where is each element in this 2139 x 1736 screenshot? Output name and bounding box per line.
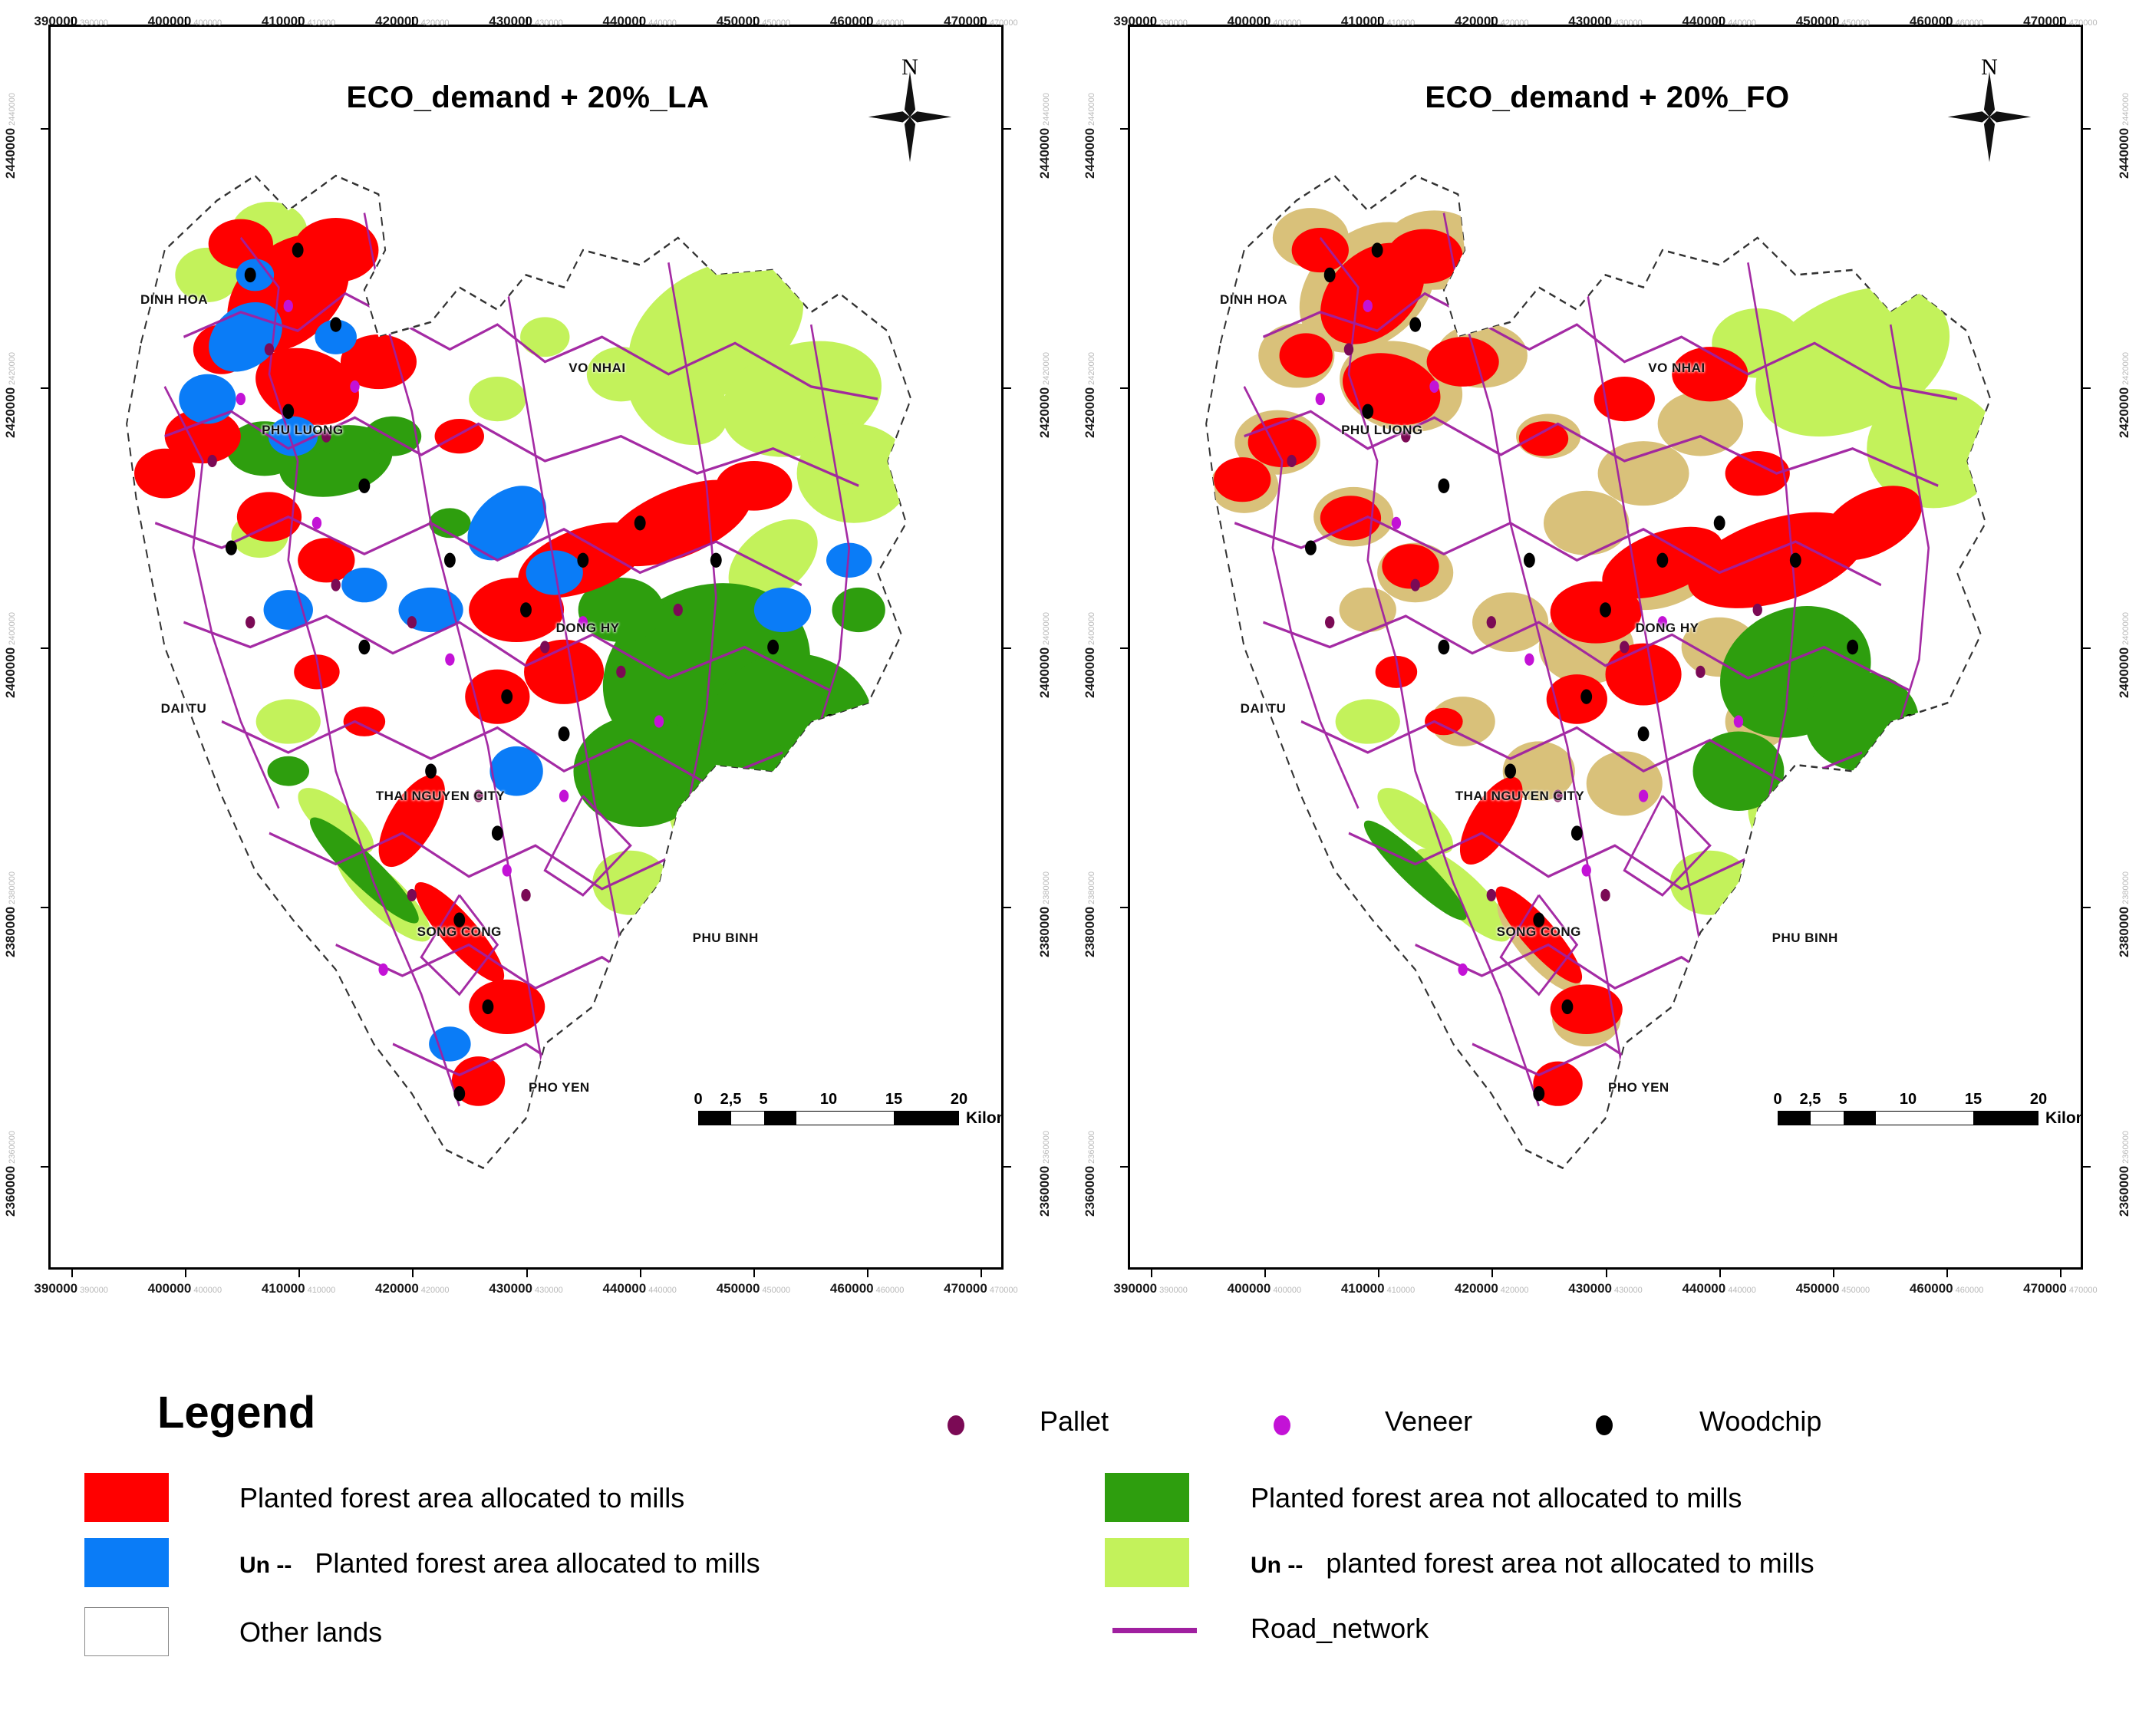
legend-point-label: Woodchip xyxy=(1699,1405,1821,1438)
x-tick-mark xyxy=(1378,17,1379,25)
scalebar-tick-label: 20 xyxy=(951,1091,967,1108)
x-tick-mark xyxy=(1378,1270,1379,1277)
place-label: VO NHAI xyxy=(569,361,625,376)
north-letter-la: N xyxy=(901,54,918,81)
scalebar-tick-label: 15 xyxy=(885,1091,902,1108)
x-tick-label: 390000390000 xyxy=(34,1281,107,1296)
legend-area-label: Other lands xyxy=(239,1616,382,1649)
woodchip-dot-icon xyxy=(1596,1415,1613,1435)
x-tick-label: 460000460000 xyxy=(1910,1281,1983,1296)
y-tick-mark xyxy=(1120,128,1128,130)
legend: Legend PalletVeneerWoodchipPlanted fores… xyxy=(0,1373,2139,1734)
map-frame-fo: DINH HOAPHU LUONGVO NHAIDONG HYDAI TUTHA… xyxy=(1128,25,2083,1270)
place-label: PHU LUONG xyxy=(262,423,344,438)
north-arrow-fo: N xyxy=(1944,58,2035,173)
legend-point-label: Veneer xyxy=(1385,1405,1472,1438)
x-tick-mark xyxy=(298,1270,300,1277)
x-tick-mark xyxy=(185,1270,186,1277)
veneer-dot-icon xyxy=(1274,1415,1290,1435)
scalebar-tick-label: 2,5 xyxy=(1800,1091,1821,1108)
place-label: PHU BINH xyxy=(1772,931,1838,946)
y-tick-label: 23600002360000 xyxy=(1083,1131,1098,1217)
x-tick-mark xyxy=(1719,1270,1721,1277)
x-tick-mark xyxy=(867,17,868,25)
y-tick-label: 23600002360000 xyxy=(2117,1131,2132,1217)
x-tick-label: 430000430000 xyxy=(489,1281,562,1296)
x-tick-mark xyxy=(1264,17,1266,25)
x-tick-mark xyxy=(1151,17,1152,25)
y-tick-label: 23600002360000 xyxy=(3,1131,18,1217)
x-tick-mark xyxy=(71,17,73,25)
x-tick-mark xyxy=(298,17,300,25)
y-tick-label: 24200002420000 xyxy=(2117,352,2132,438)
y-tick-label: 24000002400000 xyxy=(2117,611,2132,697)
scalebar-tick-label: 0 xyxy=(694,1091,702,1108)
y-tick-label: 23800002380000 xyxy=(2117,871,2132,957)
x-tick-mark xyxy=(412,17,414,25)
x-tick-label: 420000420000 xyxy=(1455,1281,1528,1296)
scalebar-labels-fo: 02,55101520 xyxy=(1778,1091,2038,1111)
scalebar-tick-label: 5 xyxy=(1838,1091,1847,1108)
x-tick-mark xyxy=(412,1270,414,1277)
scalebar-tick-label: 10 xyxy=(820,1091,837,1108)
scalebar-tick-label: 20 xyxy=(2030,1091,2047,1108)
y-tick-label: 24000002400000 xyxy=(1037,611,1053,697)
x-tick-label: 410000410000 xyxy=(262,1281,335,1296)
pallet-dot-icon xyxy=(948,1415,964,1435)
x-tick-mark xyxy=(1719,17,1721,25)
x-tick-label: 440000440000 xyxy=(602,1281,676,1296)
x-tick-label: 410000410000 xyxy=(1341,1281,1415,1296)
place-label: DAI TU xyxy=(1241,701,1287,716)
x-tick-mark xyxy=(1833,17,1834,25)
place-label: SONG CONG xyxy=(417,924,502,940)
y-tick-mark xyxy=(1120,387,1128,389)
scalebar-unit-la: Kilometers xyxy=(966,1109,1004,1128)
y-tick-label: 23800002380000 xyxy=(1037,871,1053,957)
x-tick-mark xyxy=(1151,1270,1152,1277)
x-tick-mark xyxy=(526,1270,528,1277)
y-tick-label: 23600002360000 xyxy=(1037,1131,1053,1217)
y-tick-mark xyxy=(1120,907,1128,908)
x-tick-label: 400000400000 xyxy=(1228,1281,1301,1296)
road-network-line-icon xyxy=(1112,1628,1197,1633)
x-tick-mark xyxy=(1946,17,1948,25)
y-tick-label: 24200002420000 xyxy=(1037,352,1053,438)
y-tick-mark xyxy=(2083,1166,2091,1168)
x-tick-mark xyxy=(2060,17,2062,25)
map-frame-la: DINH HOAPHU LUONGVO NHAIDONG HYDAI TUTHA… xyxy=(48,25,1004,1270)
legend-area-label: Planted forest area not allocated to mil… xyxy=(1251,1482,1742,1514)
scalebar-tick-label: 2,5 xyxy=(720,1091,742,1108)
north-letter-fo: N xyxy=(1981,54,1998,81)
y-tick-mark xyxy=(2083,907,2091,908)
y-tick-mark xyxy=(1120,647,1128,649)
legend-point-label: Pallet xyxy=(1040,1405,1109,1438)
place-label: DONG HY xyxy=(1636,621,1699,636)
y-tick-label: 23800002380000 xyxy=(1083,871,1098,957)
scalebar-unit-fo: Kilometers xyxy=(2045,1109,2083,1128)
place-label: DONG HY xyxy=(556,621,620,636)
north-arrow-la: N xyxy=(865,58,955,173)
y-tick-mark xyxy=(2083,387,2091,389)
map-svg-la xyxy=(51,27,1001,1267)
figure-root: ECO_demand + 20%_LA xyxy=(0,0,2139,1736)
y-tick-mark xyxy=(1004,907,1011,908)
y-tick-mark xyxy=(41,907,48,908)
x-tick-mark xyxy=(1606,1270,1607,1277)
x-tick-mark xyxy=(981,1270,982,1277)
x-tick-label: 390000390000 xyxy=(1113,1281,1187,1296)
y-tick-label: 24000002400000 xyxy=(1083,611,1098,697)
x-tick-label: 450000450000 xyxy=(1796,1281,1870,1296)
map-panel-fo: ECO_demand + 20%_FO xyxy=(1086,8,2129,1304)
place-label: THAI NGUYEN CITY xyxy=(1455,789,1585,804)
y-tick-mark xyxy=(41,128,48,130)
y-tick-mark xyxy=(1004,647,1011,649)
map-artwork-fo xyxy=(1130,27,2081,1267)
scalebar-fo: 02,55101520 Kilometers xyxy=(1778,1091,2038,1125)
place-label: SONG CONG xyxy=(1497,924,1581,940)
x-tick-label: 420000420000 xyxy=(375,1281,449,1296)
x-tick-label: 470000470000 xyxy=(944,1281,1017,1296)
x-tick-label: 450000450000 xyxy=(717,1281,790,1296)
map-artwork-la xyxy=(51,27,1001,1267)
place-label: THAI NGUYEN CITY xyxy=(376,789,506,804)
scalebar-tick-label: 10 xyxy=(1900,1091,1917,1108)
x-tick-mark xyxy=(753,1270,755,1277)
x-tick-mark xyxy=(1606,17,1607,25)
x-tick-label: 440000440000 xyxy=(1682,1281,1755,1296)
scalebar-tick-label: 15 xyxy=(1965,1091,1982,1108)
legend-swatch xyxy=(1105,1538,1189,1587)
x-tick-label: 470000470000 xyxy=(2023,1281,2097,1296)
place-label: PHO YEN xyxy=(1608,1080,1669,1095)
place-label: PHO YEN xyxy=(529,1080,590,1095)
y-tick-mark xyxy=(1120,1166,1128,1168)
legend-swatch xyxy=(84,1538,169,1587)
x-tick-mark xyxy=(2060,1270,2062,1277)
x-tick-label: 460000460000 xyxy=(830,1281,904,1296)
place-label: PHU BINH xyxy=(693,931,759,946)
x-tick-mark xyxy=(1491,17,1493,25)
y-tick-mark xyxy=(1004,128,1011,130)
scalebar-tick-label: 0 xyxy=(1773,1091,1781,1108)
y-tick-label: 23800002380000 xyxy=(3,871,18,957)
x-tick-mark xyxy=(1491,1270,1493,1277)
legend-swatch xyxy=(1105,1473,1189,1522)
y-tick-mark xyxy=(2083,128,2091,130)
x-tick-mark xyxy=(1264,1270,1266,1277)
x-tick-label: 400000400000 xyxy=(148,1281,222,1296)
legend-swatch xyxy=(84,1607,169,1656)
place-label: PHU LUONG xyxy=(1341,423,1423,438)
legend-area-label: Un -- Planted forest area allocated to m… xyxy=(239,1547,760,1580)
y-tick-mark xyxy=(41,647,48,649)
map-panel-la: ECO_demand + 20%_LA xyxy=(6,8,1050,1304)
y-tick-mark xyxy=(1004,1166,1011,1168)
scalebar-tick-label: 5 xyxy=(759,1091,767,1108)
y-tick-mark xyxy=(2083,647,2091,649)
x-tick-mark xyxy=(1946,1270,1948,1277)
y-tick-label: 24000002400000 xyxy=(3,611,18,697)
y-tick-label: 24200002420000 xyxy=(3,352,18,438)
place-label: DINH HOA xyxy=(1220,292,1287,308)
x-tick-mark xyxy=(1833,1270,1834,1277)
x-tick-mark xyxy=(640,17,641,25)
y-tick-label: 24200002420000 xyxy=(1083,352,1098,438)
x-tick-mark xyxy=(981,17,982,25)
legend-swatch xyxy=(84,1473,169,1522)
x-tick-mark xyxy=(640,1270,641,1277)
legend-title: Legend xyxy=(157,1387,315,1438)
x-tick-mark xyxy=(71,1270,73,1277)
map-svg-fo xyxy=(1130,27,2081,1267)
y-tick-mark xyxy=(41,387,48,389)
x-tick-mark xyxy=(867,1270,868,1277)
scalebar-labels-la: 02,55101520 xyxy=(698,1091,959,1111)
legend-area-label: Un -- planted forest area not allocated … xyxy=(1251,1547,1814,1580)
legend-line-label: Road_network xyxy=(1251,1612,1429,1645)
legend-area-label: Planted forest area allocated to mills xyxy=(239,1482,684,1514)
place-label: VO NHAI xyxy=(1648,361,1705,376)
scalebar-bar-la: Kilometers xyxy=(698,1111,959,1125)
x-tick-mark xyxy=(753,17,755,25)
place-label: DAI TU xyxy=(161,701,207,716)
scalebar-bar-fo: Kilometers xyxy=(1778,1111,2038,1125)
y-tick-mark xyxy=(41,1166,48,1168)
x-tick-mark xyxy=(526,17,528,25)
x-tick-label: 430000430000 xyxy=(1568,1281,1642,1296)
place-label: DINH HOA xyxy=(140,292,208,308)
scalebar-la: 02,55101520 Kilometers xyxy=(698,1091,959,1125)
x-tick-mark xyxy=(185,17,186,25)
y-tick-mark xyxy=(1004,387,1011,389)
